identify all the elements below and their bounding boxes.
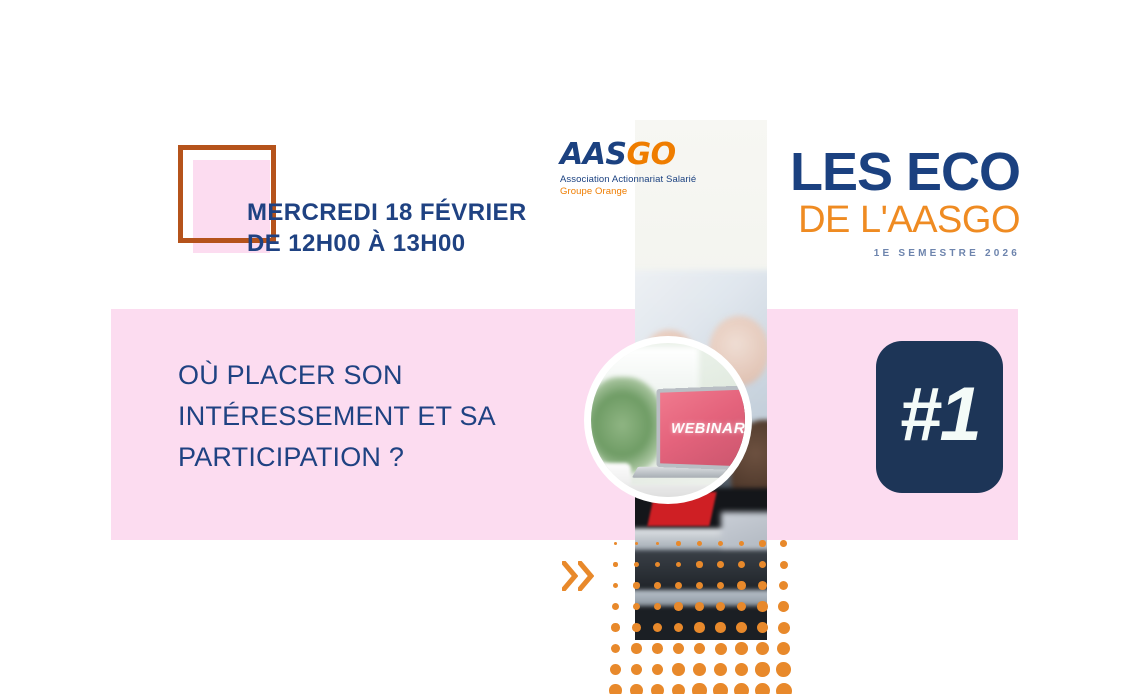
dot-cell (689, 680, 710, 694)
dot-cell (626, 533, 647, 554)
dot (696, 561, 702, 567)
dot (780, 540, 787, 547)
dot (652, 664, 664, 676)
dot-cell (731, 533, 752, 554)
dot-cell (773, 575, 794, 596)
dot (614, 542, 617, 545)
dot (735, 663, 749, 677)
dot-cell (647, 659, 668, 680)
dot (716, 602, 725, 611)
dot (633, 582, 639, 588)
dot-cell (689, 554, 710, 575)
dot (759, 540, 765, 546)
dot-cell (773, 680, 794, 694)
masthead: LES ECO DE L'AASGO 1E SEMESTRE 2026 (770, 146, 1020, 259)
dot (651, 684, 664, 694)
dot-cell (605, 617, 626, 638)
dot (654, 603, 662, 611)
dot (656, 542, 660, 546)
dot-cell (605, 596, 626, 617)
dot (755, 662, 769, 676)
dot (779, 581, 788, 590)
dot-cell (731, 554, 752, 575)
dot (676, 562, 682, 568)
dot (715, 622, 726, 633)
dot-cell (752, 617, 773, 638)
dot-cell (773, 638, 794, 659)
dot-cell (668, 659, 689, 680)
dot (674, 623, 684, 633)
dot (673, 643, 684, 654)
dot-cell (647, 638, 668, 659)
dot (777, 642, 790, 655)
masthead-title: LES ECO (770, 146, 1020, 199)
dot (776, 662, 791, 677)
dot-grid-decoration (605, 533, 794, 694)
dot-cell (668, 617, 689, 638)
dot-cell (773, 554, 794, 575)
dot (676, 541, 680, 545)
dot (776, 683, 792, 694)
event-date: MERCREDI 18 FÉVRIER (247, 198, 527, 229)
dot (778, 622, 790, 634)
dot (714, 663, 727, 676)
dot-cell (626, 617, 647, 638)
dot (631, 664, 643, 676)
dot (609, 684, 621, 694)
dot-cell (647, 617, 668, 638)
masthead-subtitle: DE L'AASGO (770, 201, 1020, 240)
dot (694, 643, 706, 655)
dot (611, 644, 621, 654)
dot (611, 623, 619, 631)
dot-cell (752, 680, 773, 694)
dot-cell (689, 596, 710, 617)
dot-cell (689, 575, 710, 596)
dot (675, 582, 682, 589)
dot-cell (731, 596, 752, 617)
event-date-block: MERCREDI 18 FÉVRIER DE 12H00 À 13H00 (247, 198, 527, 259)
dot-cell (752, 554, 773, 575)
dot (717, 561, 724, 568)
circular-webinar-photo: WEBINAR (584, 336, 752, 504)
dot (635, 542, 639, 546)
dot-cell (668, 680, 689, 694)
dot (630, 684, 643, 694)
dot-cell (647, 575, 668, 596)
masthead-edition: 1E SEMESTRE 2026 (770, 248, 1020, 259)
dot-cell (710, 554, 731, 575)
dot-cell (773, 596, 794, 617)
dot (634, 562, 639, 567)
dot-cell (710, 680, 731, 694)
aasgo-logo-subtitle: Association Actionnariat Salarié (560, 174, 696, 186)
dot-cell (710, 575, 731, 596)
dot-cell (668, 596, 689, 617)
dot-cell (647, 533, 668, 554)
dot-cell (647, 680, 668, 694)
dot-cell (731, 659, 752, 680)
dot-cell (710, 638, 731, 659)
dot (613, 562, 617, 566)
dot (756, 642, 769, 655)
dot-cell (752, 575, 773, 596)
dot-cell (626, 554, 647, 575)
dot (713, 683, 728, 694)
dot (693, 663, 706, 676)
dot (655, 562, 660, 567)
dot (759, 561, 767, 569)
aasgo-logo-group: Groupe Orange (560, 186, 696, 198)
aasgo-logo: AASGO Association Actionnariat Salarié G… (560, 140, 696, 198)
dot (737, 581, 745, 589)
dot-cell (626, 575, 647, 596)
dot-cell (752, 596, 773, 617)
dot (672, 663, 684, 675)
dot-cell (605, 575, 626, 596)
issue-number-badge: #1 (876, 341, 1003, 493)
double-chevron-icon (562, 561, 594, 591)
laptop-screen: WEBINAR (657, 385, 752, 471)
dot-cell (710, 617, 731, 638)
dot-cell (731, 617, 752, 638)
dot-cell (668, 575, 689, 596)
dot (694, 622, 704, 632)
dot (739, 541, 745, 547)
dot-cell (731, 680, 752, 694)
dot (718, 541, 723, 546)
dot-cell (710, 659, 731, 680)
dot (717, 582, 725, 590)
dot (631, 643, 641, 653)
dot (672, 684, 686, 694)
dot (633, 603, 641, 611)
aasgo-logo-wordmark: AASGO (560, 140, 696, 170)
dot (697, 541, 702, 546)
photo-plant (587, 377, 665, 473)
dot (695, 602, 704, 611)
dot (612, 603, 619, 610)
dot-cell (752, 638, 773, 659)
dot-cell (773, 533, 794, 554)
dot (632, 623, 641, 632)
dot-cell (626, 596, 647, 617)
dot (696, 582, 704, 590)
dot-cell (605, 554, 626, 575)
dot (610, 664, 621, 675)
dot (715, 643, 727, 655)
dot-cell (731, 575, 752, 596)
dot-cell (626, 659, 647, 680)
dot-cell (731, 638, 752, 659)
dot (653, 623, 662, 632)
dot (692, 683, 706, 694)
poster-canvas: MERCREDI 18 FÉVRIER DE 12H00 À 13H00 WEB… (0, 0, 1140, 694)
dot-cell (752, 533, 773, 554)
issue-number-text: #1 (899, 377, 980, 453)
dot-cell (647, 596, 668, 617)
dot-cell (668, 533, 689, 554)
dot-cell (605, 680, 626, 694)
dot-cell (689, 638, 710, 659)
dot-cell (668, 554, 689, 575)
dot-cell (689, 617, 710, 638)
dot-cell (689, 659, 710, 680)
dot-cell (752, 659, 773, 680)
aasgo-logo-go: GO (627, 137, 676, 172)
dot-cell (605, 533, 626, 554)
aasgo-logo-aas: AAS (560, 137, 627, 172)
dot-cell (773, 659, 794, 680)
dot (734, 683, 749, 694)
dot (778, 601, 789, 612)
dot (654, 582, 661, 589)
dot-cell (647, 554, 668, 575)
dot (613, 583, 619, 589)
dot-cell (626, 680, 647, 694)
dot-cell (689, 533, 710, 554)
dot-cell (668, 638, 689, 659)
dot-cell (773, 617, 794, 638)
headline: OÙ PLACER SON INTÉRESSEMENT ET SA PARTIC… (178, 355, 538, 478)
dot-cell (626, 638, 647, 659)
dot-cell (605, 659, 626, 680)
dot (737, 602, 747, 612)
dot (738, 561, 745, 568)
webinar-screen-label: WEBINAR (660, 389, 752, 467)
dot-cell (710, 596, 731, 617)
dot (780, 561, 788, 569)
event-time: DE 12H00 À 13H00 (247, 229, 527, 260)
dot (757, 622, 769, 634)
dot (736, 622, 747, 633)
dot-cell (710, 533, 731, 554)
dot (674, 602, 682, 610)
dot-cell (605, 638, 626, 659)
dot (757, 601, 767, 611)
dot (758, 581, 767, 590)
dot (735, 642, 747, 654)
dot (652, 643, 663, 654)
dot (755, 683, 771, 694)
chevron-right-icon-1 (562, 561, 578, 591)
chevron-right-icon-2 (578, 561, 594, 591)
